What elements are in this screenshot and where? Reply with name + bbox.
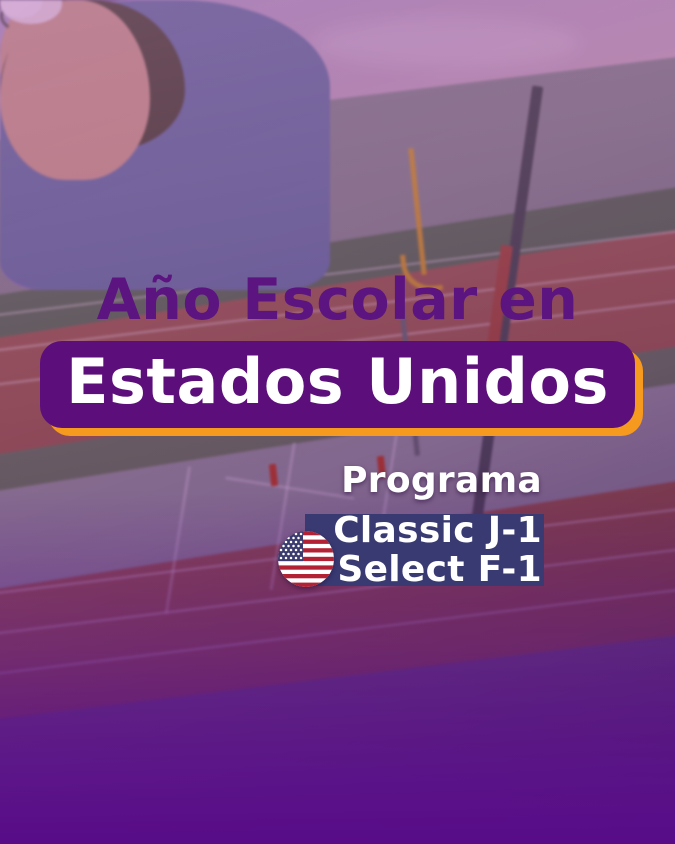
headline-boxed-wrapper: Estados Unidos bbox=[40, 341, 635, 428]
program-block: Programa Classic J-1 & Select F-1 bbox=[0, 462, 544, 503]
promotional-poster: Año Escolar en Estados Unidos Programa C… bbox=[0, 0, 675, 844]
headline-block: Año Escolar en Estados Unidos bbox=[0, 272, 675, 428]
us-flag-circle-icon bbox=[278, 531, 334, 587]
headline-line-2: Estados Unidos bbox=[66, 349, 609, 414]
purple-headline-box: Estados Unidos bbox=[40, 341, 635, 428]
program-name-classic-j1: Classic J-1 bbox=[0, 512, 542, 551]
program-name-select-f1: & Select F-1 bbox=[0, 551, 542, 590]
program-names: Classic J-1 & Select F-1 bbox=[0, 512, 544, 590]
headline-line-1: Año Escolar en bbox=[0, 272, 675, 329]
program-label: Programa bbox=[0, 462, 542, 501]
